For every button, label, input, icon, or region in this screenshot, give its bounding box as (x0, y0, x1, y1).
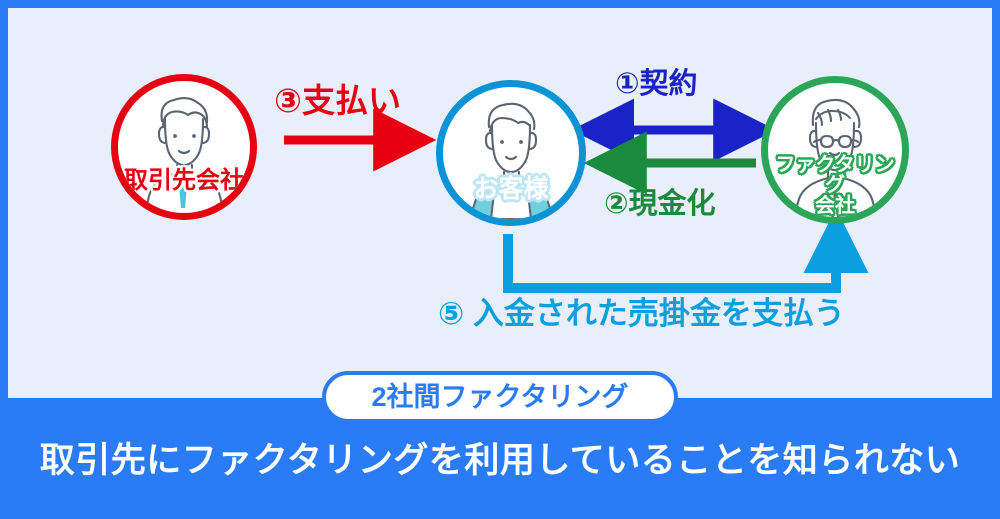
flow-label-payment: ③支払い (274, 84, 401, 117)
section-title-badge: 2社間ファクタリング (322, 371, 678, 423)
bottom-caption-text: 取引先にファクタリングを利用していることを知られない (0, 432, 1000, 483)
node-client-company[interactable]: 取引先会社 (111, 74, 257, 220)
section-title-badge-label: 2社間ファクタリング (372, 384, 629, 411)
flow-label-contract: ①契約 (615, 70, 698, 99)
businessman-avatar-icon (118, 81, 250, 213)
customer-avatar-icon (443, 87, 579, 219)
senior-advisor-avatar-icon (768, 83, 902, 217)
arrow-repayment (508, 234, 836, 288)
diagram-panel: 取引先会社 お客様 (8, 8, 992, 398)
diagram-canvas: 取引先会社 お客様 (0, 0, 1000, 519)
node-customer[interactable]: お客様 (436, 80, 586, 226)
flow-label-cash: ②現金化 (604, 190, 716, 219)
flow-label-repayment: ⑤ 入金された売掛金を支払う (438, 298, 845, 329)
node-factoring-company[interactable]: ファクタリング 会社 (761, 76, 909, 224)
